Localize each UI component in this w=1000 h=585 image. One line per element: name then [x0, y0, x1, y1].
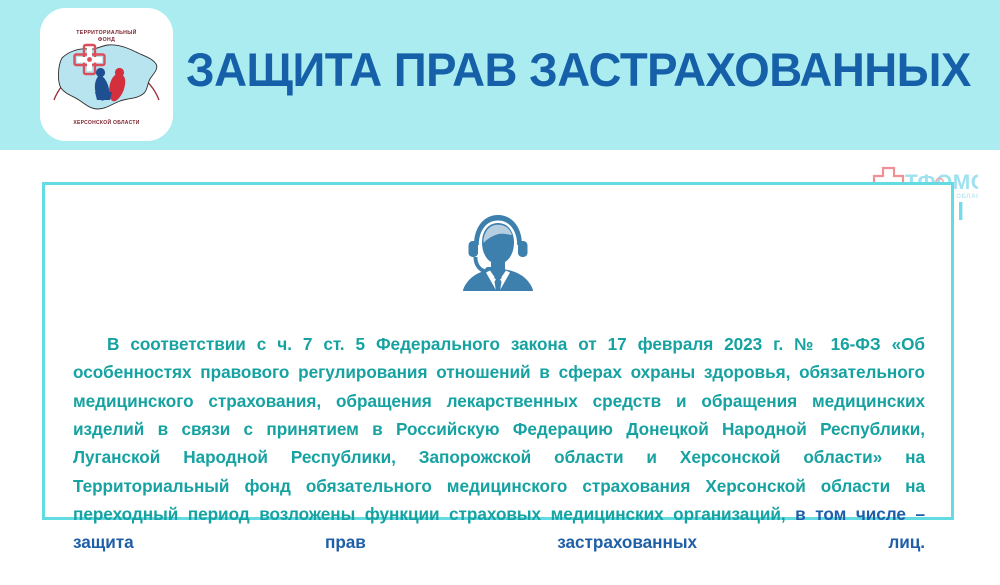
content-panel: В соответствии с ч. 7 ст. 5 Федерального… — [42, 182, 954, 520]
logo-top-text-line1: ТЕРРИТОРИАЛЬНЫЙ — [76, 28, 137, 36]
legal-paragraph: В соответствии с ч. 7 ст. 5 Федерального… — [73, 330, 925, 585]
page-body: ТФОМС ХЕРСОНСКОЙ ОБЛАСТИ — [0, 150, 1000, 562]
organization-logo: ТЕРРИТОРИАЛЬНЫЙ ФОНД ХЕРСОНСКОЙ ОБЛАСТИ — [40, 8, 173, 141]
page-title: ЗАЩИТА ПРАВ ЗАСТРАХОВАННЫХ — [186, 42, 962, 98]
logo-bottom-text: ХЕРСОНСКОЙ ОБЛАСТИ — [73, 118, 139, 126]
legal-paragraph-main: В соответствии с ч. 7 ст. 5 Федерального… — [73, 334, 925, 524]
logo-top-text-line2: ФОНД — [98, 37, 115, 43]
tfoms-kherson-logo-icon: ТЕРРИТОРИАЛЬНЫЙ ФОНД ХЕРСОНСКОЙ ОБЛАСТИ — [40, 8, 173, 141]
page-header: ТЕРРИТОРИАЛЬНЫЙ ФОНД ХЕРСОНСКОЙ ОБЛАСТИ … — [0, 0, 1000, 150]
support-operator-icon — [454, 203, 542, 291]
